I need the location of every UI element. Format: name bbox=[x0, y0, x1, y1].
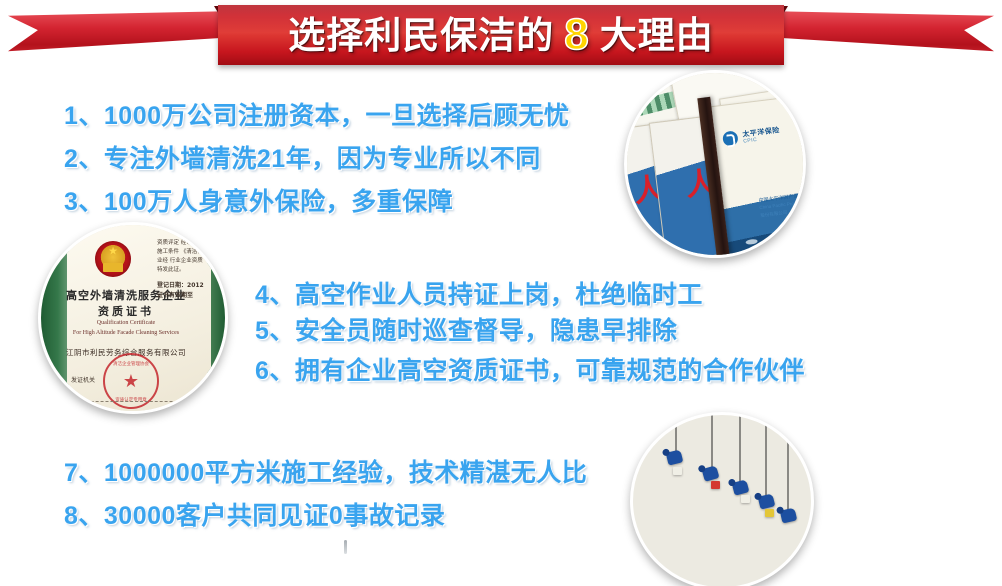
reason-index-6: 6、 bbox=[255, 357, 295, 385]
cloud-shape-1 bbox=[745, 239, 758, 245]
promo-poster: 选择利民保洁的 8 大理由 1、1000万公司注册资本，一旦选择后顾无忧 2、专… bbox=[0, 0, 1002, 586]
safety-rope-5 bbox=[787, 415, 789, 511]
cpic-name-en: CPIC bbox=[743, 137, 758, 145]
banner: 选择利民保洁的 8 大理由 bbox=[0, 0, 1002, 72]
reason-text-8: 30000客户共同见证0事故记录 bbox=[104, 502, 445, 530]
emblem-star: ★ bbox=[108, 245, 118, 258]
cloud-shape-2 bbox=[768, 240, 777, 245]
reason-index-8: 8、 bbox=[64, 502, 104, 530]
reason-index-5: 5、 bbox=[255, 317, 295, 345]
ribbon-tail-right-icon bbox=[764, 10, 994, 58]
stamp-top-text: 清洁企业管理协会 bbox=[113, 361, 149, 367]
national-emblem-icon: ★ bbox=[93, 239, 133, 279]
reason-text-1: 1000万公司注册资本，一旦选择后顾无忧 bbox=[104, 102, 570, 130]
reason-text-3: 100万人身意外保险，多重保障 bbox=[104, 188, 453, 216]
reason-index-3: 3、 bbox=[64, 188, 104, 216]
reason-index-7: 7、 bbox=[64, 459, 104, 487]
ribbon-tail-left-icon bbox=[8, 10, 238, 58]
photo-qualification-certificate: ★ 高空外墙清洗服务企业 资质证书 Qualification Certific… bbox=[38, 222, 228, 414]
reason-item-6: 6、拥有企业高空资质证书，可靠规范的合作伙伴 bbox=[255, 351, 805, 387]
title-part-1: 选择利民保洁的 bbox=[288, 17, 554, 54]
banner-center-block: 选择利民保洁的 8 大理由 bbox=[218, 5, 784, 65]
certificate-right-column: 资质评定 经审 服务施工条件 《清洁行业经 行业企业资质 特发此证。 登记日期：… bbox=[157, 239, 207, 301]
safety-rope-3 bbox=[739, 415, 741, 487]
certificate-english-line-2: For High Altitude Facade Cleaning Servic… bbox=[41, 330, 211, 336]
reason-text-4: 高空作业人员持证上岗，杜绝临时工 bbox=[295, 281, 703, 309]
certificate-valid-label: 证书有效期至 bbox=[157, 292, 193, 299]
glass-facade-background bbox=[633, 415, 811, 586]
worker-bucket-1 bbox=[673, 467, 682, 475]
safety-rope-4 bbox=[765, 415, 767, 501]
reason-text-7: 1000000平方米施工经验，技术精湛无人比 bbox=[104, 459, 587, 487]
title-part-2: 大理由 bbox=[600, 17, 714, 54]
certificate-reg-date-label: 登记日期： bbox=[157, 282, 187, 289]
reason-text-6: 拥有企业高空资质证书，可靠规范的合作伙伴 bbox=[295, 357, 805, 385]
certificate-dashed-line bbox=[71, 401, 207, 402]
stamp-bottom-text: 资质认定专用章 bbox=[115, 397, 147, 403]
worker-bucket-2 bbox=[711, 481, 720, 489]
reason-item-2: 2、专注外墙清洗21年，因为专业所以不同 bbox=[64, 139, 541, 175]
photo-insurance-policies: 人 人 太平洋保险 CPIC 中国太平洋财产保险 China Pacific P… bbox=[624, 70, 806, 258]
reason-index-2: 2、 bbox=[64, 145, 104, 173]
certificate-english-line-1: Qualification Certificate bbox=[41, 320, 211, 326]
reason-item-3: 3、100万人身意外保险，多重保障 bbox=[64, 182, 453, 218]
reason-index-1: 1、 bbox=[64, 102, 104, 130]
reason-item-1: 1、1000万公司注册资本，一旦选择后顾无忧 bbox=[64, 96, 570, 132]
decorative-speck bbox=[344, 540, 347, 554]
reason-index-4: 4、 bbox=[255, 281, 295, 309]
worker-bucket-4 bbox=[765, 509, 774, 517]
cpic-footer-sub: 股份有限公司 bbox=[760, 210, 788, 219]
reason-item-5: 5、安全员随时巡查督导，隐患早排除 bbox=[255, 311, 677, 347]
certificate-right-body: 资质评定 经审 服务施工条件 《清洁行业经 行业企业资质 特发此证。 bbox=[157, 239, 207, 275]
reason-item-4: 4、高空作业人员持证上岗，杜绝临时工 bbox=[255, 275, 703, 311]
safety-rope-2 bbox=[711, 415, 713, 473]
stamp-star-icon: ★ bbox=[123, 371, 139, 392]
emblem-gate bbox=[103, 263, 123, 272]
worker-bucket-3 bbox=[741, 495, 750, 503]
page-title: 选择利民保洁的 8 大理由 bbox=[288, 13, 713, 57]
photo-high-rise-workers bbox=[630, 412, 814, 586]
cpic-logo-icon bbox=[722, 130, 739, 147]
title-number-eight: 8 bbox=[554, 13, 599, 57]
reason-item-7: 7、1000000平方米施工经验，技术精湛无人比 bbox=[64, 453, 587, 489]
reason-text-2: 专注外墙清洗21年，因为专业所以不同 bbox=[104, 145, 541, 173]
reason-text-5: 安全员随时巡查督导，隐患早排除 bbox=[295, 317, 678, 345]
certificate-title-line-2: 资质证书 bbox=[41, 303, 211, 319]
reason-item-8: 8、30000客户共同见证0事故记录 bbox=[64, 496, 445, 532]
certificate-issuer-label: 发证机关 bbox=[71, 375, 95, 384]
certificate-reg-date-value: 2012 bbox=[187, 282, 204, 289]
